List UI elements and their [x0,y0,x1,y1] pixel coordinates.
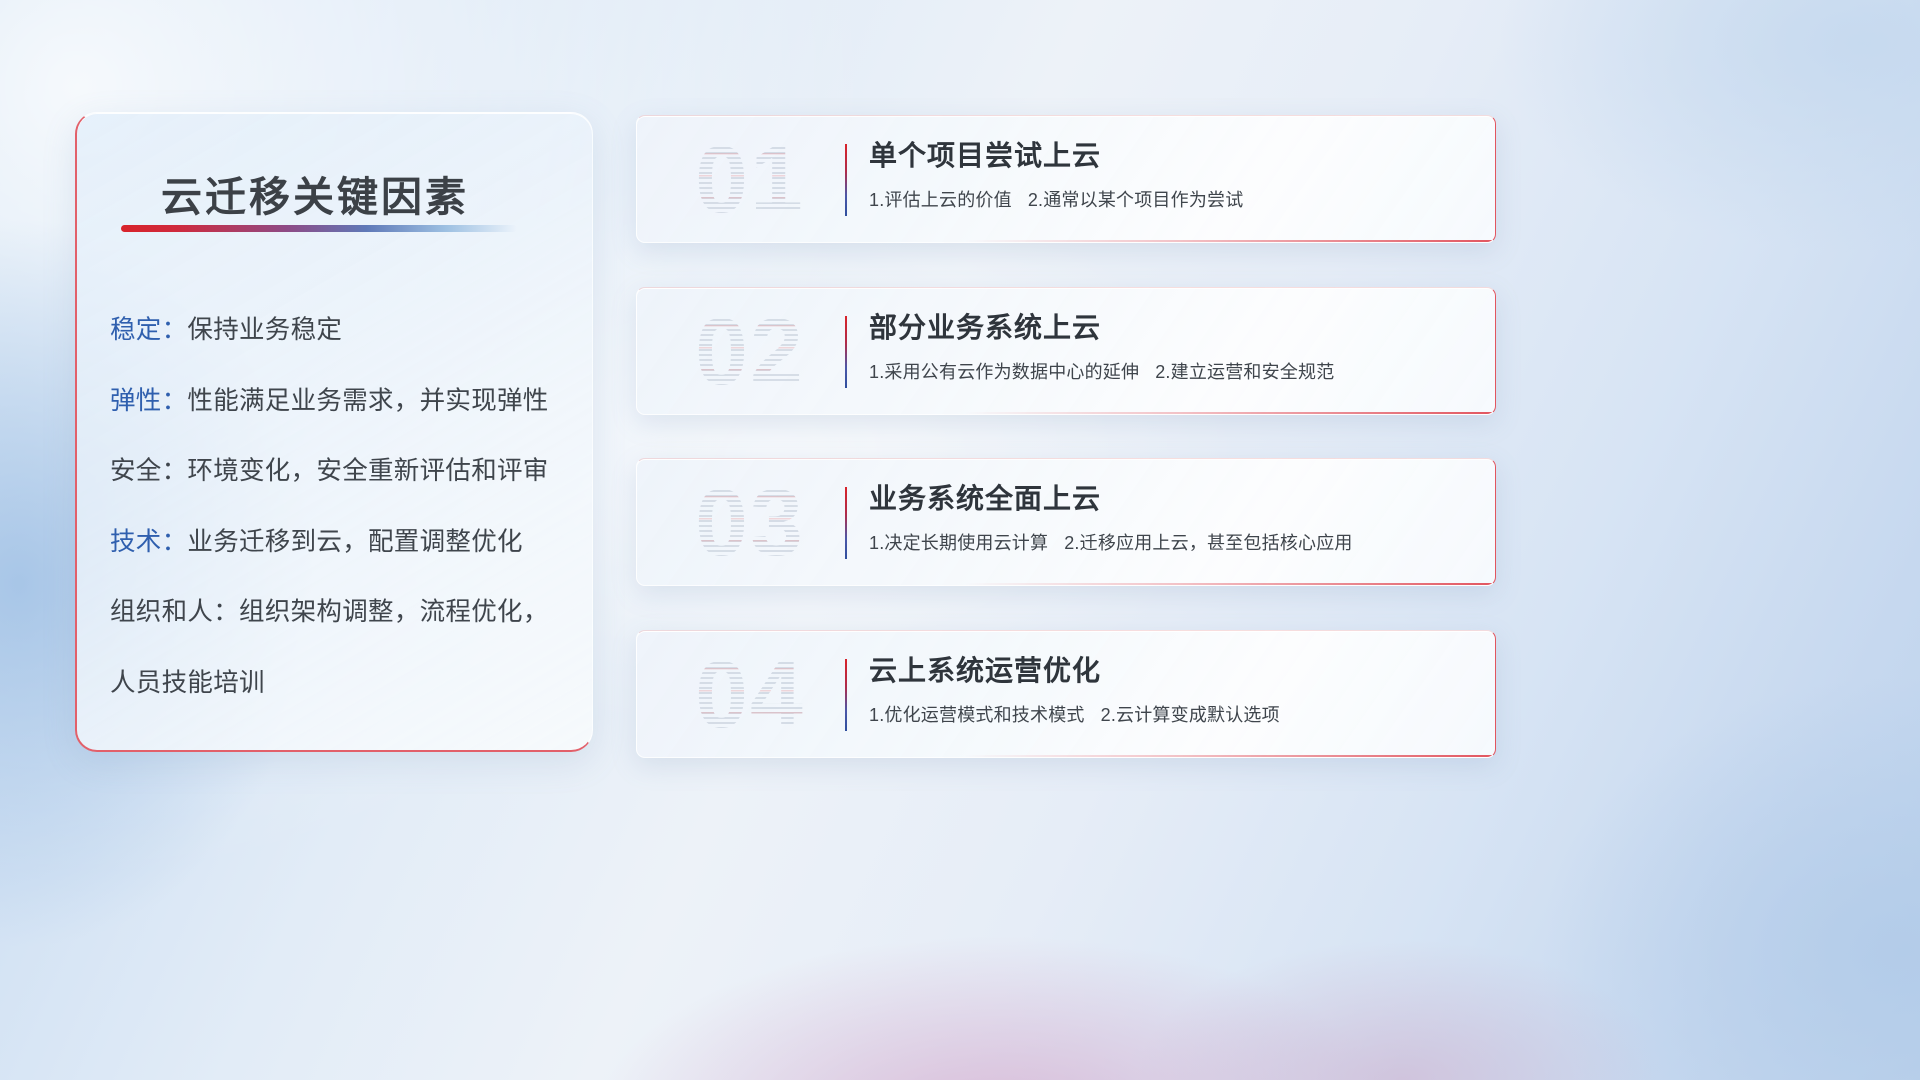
slide-stage: 云迁移关键因素 稳定：保持业务稳定 弹性：性能满足业务需求，并实现弹性 安全：环… [0,0,1920,1080]
card-desc-item-2: 2.通常以某个项目作为尝试 [1028,190,1244,210]
list-item: 弹性：性能满足业务需求，并实现弹性 [110,389,566,415]
card-desc-item-2: 2.迁移应用上云，甚至包括核心应用 [1064,533,1352,553]
title-underline-rule [121,225,517,232]
panel-title: 云迁移关键因素 [161,163,469,223]
list-item-text: 环境变化，安全重新评估和评审 [187,457,548,485]
list-item: 组织和人：组织架构调整，流程优化， [110,600,566,626]
card-desc-item-2: 2.建立运营和安全规范 [1155,362,1334,382]
card-desc-item-1: 1.决定长期使用云计算 [869,533,1048,553]
card-title: 业务系统全面上云 [869,483,1469,515]
watermark-number-tint-icon: 01 [665,122,835,238]
list-item-text: 性能满足业务需求，并实现弹性 [187,387,548,415]
watermark-number-icon: 01 [665,122,835,238]
watermark-number-icon: 02 [665,294,835,410]
stage-card-04[interactable]: 04 04 云上系统运营优化 1.优化运营模式和技术模式2.云计算变成默认选项 [636,630,1496,758]
card-body: 业务系统全面上云 1.决定长期使用云计算2.迁移应用上云，甚至包括核心应用 [869,483,1469,555]
card-title: 部分业务系统上云 [869,312,1469,344]
list-item: 技术：业务迁移到云，配置调整优化 [110,530,566,556]
key-factors-panel: 云迁移关键因素 稳定：保持业务稳定 弹性：性能满足业务需求，并实现弹性 安全：环… [75,112,593,752]
list-item-label: 安全： [110,457,187,485]
stage-card-02[interactable]: 02 02 部分业务系统上云 1.采用公有云作为数据中心的延伸2.建立运营和安全… [636,287,1496,415]
card-desc-item-1: 1.采用公有云作为数据中心的延伸 [869,362,1139,382]
card-divider-bar [845,659,847,731]
card-divider-bar [845,144,847,216]
list-item-label: 稳定： [110,316,187,344]
card-desc-item-1: 1.评估上云的价值 [869,190,1012,210]
list-item-text: 组织架构调整，流程优化， [239,598,549,626]
list-item: 人员技能培训 [110,671,566,697]
card-divider-bar [845,487,847,559]
stage-card-01[interactable]: 01 01 单个项目尝试上云 1.评估上云的价值2.通常以某个项目作为尝试 [636,115,1496,243]
watermark-number-tint-icon: 04 [665,637,835,753]
watermark-number-icon: 04 [665,637,835,753]
list-item-text: 业务迁移到云，配置调整优化 [187,528,522,556]
watermark-number-tint-icon: 03 [665,465,835,581]
key-factors-list: 稳定：保持业务稳定 弹性：性能满足业务需求，并实现弹性 安全：环境变化，安全重新… [110,318,566,696]
card-body: 部分业务系统上云 1.采用公有云作为数据中心的延伸2.建立运营和安全规范 [869,312,1469,384]
card-description: 1.评估上云的价值2.通常以某个项目作为尝试 [869,186,1469,212]
watermark-number-icon: 03 [665,465,835,581]
card-description: 1.决定长期使用云计算2.迁移应用上云，甚至包括核心应用 [869,529,1469,555]
card-desc-item-2: 2.云计算变成默认选项 [1101,705,1280,725]
list-item-label: 组织和人： [110,598,239,626]
card-desc-item-1: 1.优化运营模式和技术模式 [869,705,1085,725]
card-body: 云上系统运营优化 1.优化运营模式和技术模式2.云计算变成默认选项 [869,655,1469,727]
card-title: 云上系统运营优化 [869,655,1469,687]
card-divider-bar [845,316,847,388]
stage-card-03[interactable]: 03 03 业务系统全面上云 1.决定长期使用云计算2.迁移应用上云，甚至包括核… [636,458,1496,586]
card-description: 1.采用公有云作为数据中心的延伸2.建立运营和安全规范 [869,358,1469,384]
card-body: 单个项目尝试上云 1.评估上云的价值2.通常以某个项目作为尝试 [869,140,1469,212]
list-item-label: 技术： [110,528,187,556]
list-item-label: 弹性： [110,387,187,415]
list-item: 稳定：保持业务稳定 [110,318,566,344]
list-item: 安全：环境变化，安全重新评估和评审 [110,459,566,485]
watermark-number-tint-icon: 02 [665,294,835,410]
list-item-text: 保持业务稳定 [187,316,342,344]
card-description: 1.优化运营模式和技术模式2.云计算变成默认选项 [869,701,1469,727]
card-title: 单个项目尝试上云 [869,140,1469,172]
list-item-text: 人员技能培训 [110,669,265,697]
